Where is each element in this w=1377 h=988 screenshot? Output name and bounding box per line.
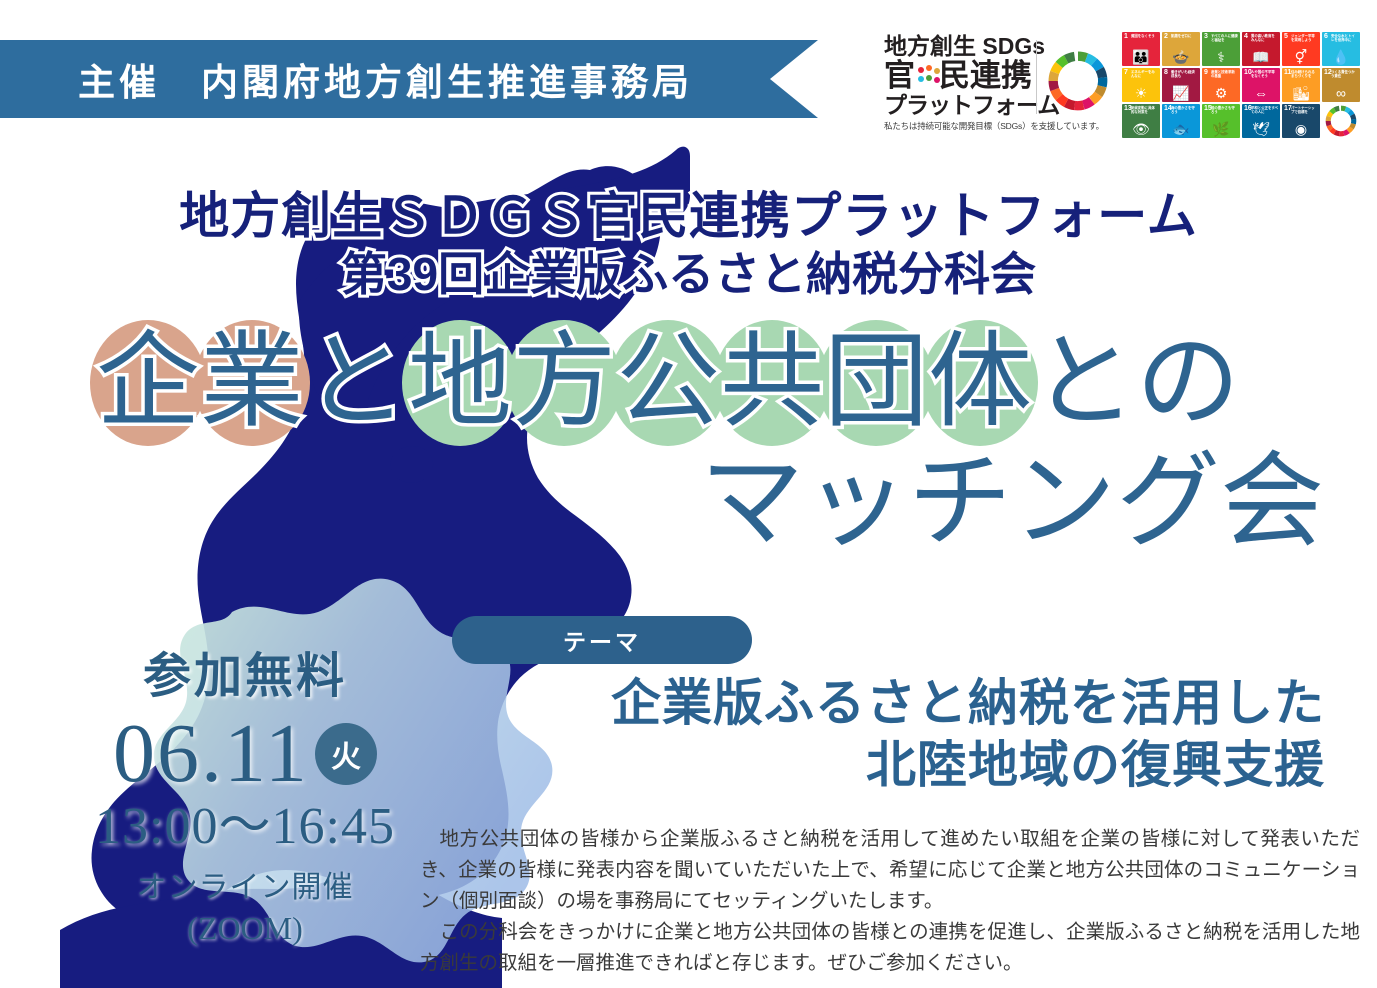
headline-char-glyph: ン — [1012, 445, 1116, 560]
sdg-goal-tile: 10人や国の不平等をなくそう⇔ — [1242, 68, 1280, 102]
platform-logo-line2-right: 民連携 — [939, 59, 1032, 92]
sdg-goal-title: 貧困をなくそう — [1131, 34, 1158, 38]
headline-row-1: 企業と地方公共団体との — [0, 318, 1377, 448]
sdg-goal-glyph-icon: ☀ — [1122, 86, 1160, 100]
poster-canvas: 主催 内閣府地方創生推進事務局 地方創生 SDGs 官 民連携 プラットフォーム… — [0, 0, 1377, 988]
sdg-goal-tile: 13気候変動に具体的な対策を👁 — [1122, 104, 1160, 138]
sdg-goal-title: 産業と技術革新の基盤 — [1211, 70, 1238, 78]
sdg-goal-glyph-icon: 📖 — [1242, 50, 1280, 64]
sdg-goal-title: すべての人に健康と福祉を — [1211, 34, 1238, 42]
event-title: 地方創生ＳＤＧＳ官民連携プラットフォーム 第39回企業版ふるさと納税分科会 — [0, 186, 1377, 302]
sdg-goal-tile: 5ジェンダー平等を実現しよう⚥ — [1282, 32, 1320, 66]
event-title-line2: 第39回企業版ふるさと納税分科会 — [0, 246, 1377, 302]
event-title-line1: 地方創生ＳＤＧＳ官民連携プラットフォーム — [0, 186, 1377, 246]
sdg-goal-number: 1 — [1124, 33, 1128, 40]
platform-logo-line2-left: 官 — [884, 59, 915, 92]
day-of-week-label: 火 — [331, 732, 361, 776]
headline-char: マ — [700, 440, 804, 566]
headline: 企業と地方公共団体との マッチング会 — [0, 318, 1377, 566]
headline-char-glyph: 団 — [824, 325, 928, 440]
headline-char-glyph: 地 — [408, 325, 512, 440]
headline-char-glyph: チ — [908, 445, 1012, 560]
sdg-goal-title: 平和と公正をすべての人に — [1251, 106, 1278, 114]
sdg-goal-number: 4 — [1244, 33, 1248, 40]
sdg-goal-glyph-icon: ∞ — [1322, 86, 1360, 100]
sdg-goal-title: 人や国の不平等をなくそう — [1251, 70, 1278, 78]
headline-char: 公 — [616, 318, 720, 448]
sdg-goal-glyph-icon: ⚙ — [1202, 86, 1240, 100]
headline-char: の — [1136, 318, 1240, 448]
headline-char-glyph: ッ — [804, 445, 908, 560]
headline-char-glyph: マ — [700, 445, 804, 560]
headline-char: 体 — [928, 318, 1032, 448]
host-ribbon-label: 主催 内閣府地方創生推進事務局 — [78, 40, 693, 118]
sdg-goal-number: 8 — [1164, 69, 1168, 76]
headline-char: チ — [908, 440, 1012, 566]
event-date: 06.11 — [113, 708, 309, 800]
sdg-goal-glyph-icon: 🌿 — [1202, 122, 1240, 136]
sdg-goal-glyph-icon: ⇔ — [1242, 86, 1280, 100]
sdg-goal-tile: 7エネルギーをみんなに☀ — [1122, 68, 1160, 102]
sdg-goal-glyph-icon: 👁 — [1122, 122, 1160, 136]
platform-logo-line3: プラットフォーム — [884, 92, 1032, 118]
day-of-week-badge: 火 — [315, 723, 377, 785]
headline-char-glyph: 会 — [1220, 445, 1324, 560]
sdg-goal-title: 飢餓をゼロに — [1171, 34, 1198, 38]
headline-char-glyph: の — [1136, 325, 1240, 440]
sdg-wheel-tile — [1322, 104, 1360, 138]
sdg-goal-number: 2 — [1164, 33, 1168, 40]
headline-char-glyph: 体 — [928, 325, 1032, 440]
headline-char-glyph: 業 — [200, 325, 304, 440]
headline-char: と — [1032, 318, 1136, 448]
sdg-goal-title: 住み続けられるまちづくりを — [1291, 70, 1318, 78]
platform-logo: 地方創生 SDGs 官 民連携 プラットフォーム 私たちは持続可能な開発目標（S… — [884, 34, 1116, 139]
sdg-goal-glyph-icon: 🐟 — [1162, 122, 1200, 136]
headline-char-glyph: と — [1032, 325, 1136, 440]
headline-char: 地 — [408, 318, 512, 448]
sdg-goal-tile: 2飢餓をゼロに🍲 — [1162, 32, 1200, 66]
logo-divider — [1036, 40, 1037, 114]
sdg-goal-title: 質の高い教育をみんなに — [1251, 34, 1278, 42]
headline-char-glyph: グ — [1116, 445, 1220, 560]
sdg-goal-title: ジェンダー平等を実現しよう — [1291, 34, 1318, 42]
headline-char-glyph: 公 — [616, 325, 720, 440]
sdg-goal-title: 陸の豊かさも守ろう — [1211, 106, 1238, 114]
event-time: 13:00〜16:45 — [60, 796, 430, 858]
sdg-goal-glyph-icon: 👪 — [1122, 50, 1160, 64]
sdg-goal-tile: 8働きがいも経済成長も📈 — [1162, 68, 1200, 102]
theme-badge: テーマ — [452, 616, 752, 664]
headline-row-2: マッチング会 — [0, 440, 1377, 566]
sdg-goal-tile: 11住み続けられるまちづくりを🏙 — [1282, 68, 1320, 102]
free-admission-label: 参加無料 — [60, 648, 430, 706]
sdg-goal-grid: 1貧困をなくそう👪 2飢餓をゼロに🍲 3すべての人に健康と福祉を⚕ 4質の高い教… — [1122, 32, 1362, 140]
headline-char-glyph: 企 — [96, 325, 200, 440]
sdg-goal-glyph-icon: 💧 — [1322, 50, 1360, 64]
description-text: 地方公共団体の皆様から企業版ふるさと納税を活用して進めたい取組を企業の皆様に対し… — [420, 824, 1360, 979]
sdg-goal-number: 5 — [1284, 33, 1288, 40]
sdg-goal-tile: 17パートナーシップで目標を◉ — [1282, 104, 1320, 138]
sdg-goal-title: 働きがいも経済成長も — [1171, 70, 1198, 78]
event-details-block: 参加無料 06.11 火 13:00〜16:45 オンライン開催 (ZOOM) — [60, 648, 430, 948]
sdg-goal-number: 9 — [1204, 69, 1208, 76]
sdg-goal-glyph-icon: 🕊 — [1242, 122, 1280, 136]
event-format: オンライン開催 — [60, 868, 430, 908]
sdg-color-wheel-icon — [1047, 50, 1109, 112]
headline-char: 企 — [96, 318, 200, 448]
sdg-goal-title: エネルギーをみんなに — [1131, 70, 1158, 78]
sdg-goal-glyph-icon: 🏙 — [1282, 86, 1320, 100]
headline-char: ン — [1012, 440, 1116, 566]
description-paragraph-1: 地方公共団体の皆様から企業版ふるさと納税を活用して進めたい取組を企業の皆様に対し… — [420, 824, 1360, 917]
description-paragraph-2: この分科会をきっかけに企業と地方公共団体の皆様との連携を促進し、企業版ふるさと納… — [420, 917, 1360, 979]
headline-char: グ — [1116, 440, 1220, 566]
headline-char-glyph: 方 — [512, 325, 616, 440]
sdg-goal-title: 安全な水とトイレを世界中に — [1331, 34, 1358, 42]
headline-char: と — [304, 318, 408, 448]
sdg-goal-glyph-icon: ⚕ — [1202, 50, 1240, 64]
platform-logo-tagline: 私たちは持続可能な開発目標（SDGs）を支援しています。 — [884, 121, 1032, 132]
sdg-goal-number: 6 — [1324, 33, 1328, 40]
sdg-goal-title: つくる責任つかう責任 — [1331, 70, 1358, 78]
sdg-goal-tile: 1貧困をなくそう👪 — [1122, 32, 1160, 66]
sdg-goal-tile: 12つくる責任つかう責任∞ — [1322, 68, 1360, 102]
headline-char: 共 — [720, 318, 824, 448]
headline-char: 会 — [1220, 440, 1324, 566]
headline-char-glyph: と — [304, 325, 408, 440]
sdg-goal-glyph-icon: 🍲 — [1162, 50, 1200, 64]
sdg-goal-title: パートナーシップで目標を — [1291, 106, 1318, 114]
event-platform: (ZOOM) — [60, 908, 430, 948]
sdg-goal-tile: 4質の高い教育をみんなに📖 — [1242, 32, 1280, 66]
sdg-goal-glyph-icon: ◉ — [1282, 122, 1320, 136]
headline-char: 方 — [512, 318, 616, 448]
sdg-goal-number: 3 — [1204, 33, 1208, 40]
sdg-goal-tile: 15陸の豊かさも守ろう🌿 — [1202, 104, 1240, 138]
headline-char: 団 — [824, 318, 928, 448]
sdg-goal-tile: 14海の豊かさを守ろう🐟 — [1162, 104, 1200, 138]
headline-char: ッ — [804, 440, 908, 566]
sdg-goal-glyph-icon: 📈 — [1162, 86, 1200, 100]
sdg-goal-tile: 3すべての人に健康と福祉を⚕ — [1202, 32, 1240, 66]
sdg-goal-tile: 9産業と技術革新の基盤⚙ — [1202, 68, 1240, 102]
sdg-goal-number: 7 — [1124, 69, 1128, 76]
platform-logo-line1: 地方創生 SDGs — [884, 34, 1032, 59]
event-date-row: 06.11 火 — [60, 708, 430, 800]
sdg-goal-title: 海の豊かさを守ろう — [1171, 106, 1198, 114]
sdg-goal-tile: 6安全な水とトイレを世界中に💧 — [1322, 32, 1360, 66]
sdg-goal-glyph-icon: ⚥ — [1282, 50, 1320, 64]
headline-char-glyph: 共 — [720, 325, 824, 440]
platform-logo-dots-icon — [916, 63, 938, 89]
headline-char: 業 — [200, 318, 304, 448]
theme-badge-label: テーマ — [563, 623, 641, 657]
sdg-goal-title: 気候変動に具体的な対策を — [1131, 106, 1158, 114]
sdg-goal-tile: 16平和と公正をすべての人に🕊 — [1242, 104, 1280, 138]
